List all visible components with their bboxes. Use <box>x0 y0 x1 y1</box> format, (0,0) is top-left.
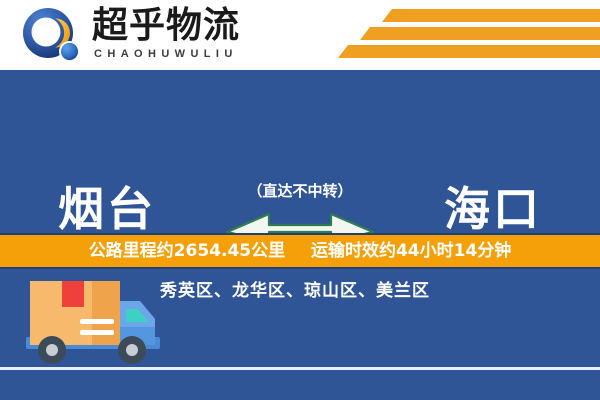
brand-name-cn: 超乎物流 <box>92 6 342 46</box>
stripe-3 <box>338 45 600 58</box>
logistics-route-banner: 超乎物流 CHAOHUWULIU 烟台 （直达不中转） 【往返运输】 海口 公路… <box>0 0 600 400</box>
covered-districts: 秀英区、龙华区、琼山区、美兰区 <box>160 279 580 303</box>
route-panel: 烟台 （直达不中转） 【往返运输】 海口 <box>0 70 600 233</box>
route-note-top: （直达不中转） <box>225 182 375 200</box>
stripe-2 <box>360 27 600 40</box>
company-logo-icon <box>22 7 84 65</box>
stripe-1 <box>382 9 600 22</box>
route-info-bar: 公路里程约2654.45公里 运输时效约44小时14分钟 <box>0 233 600 269</box>
delivery-truck-icon <box>22 275 167 370</box>
banner-header: 超乎物流 CHAOHUWULIU <box>0 0 600 70</box>
destination-city: 海口 <box>444 183 542 235</box>
distance-text: 公路里程约2654.45公里 <box>89 241 285 261</box>
divider-line <box>0 367 600 370</box>
brand-name-en: CHAOHUWULIU <box>94 47 342 61</box>
brand-block: 超乎物流 CHAOHUWULIU <box>92 6 342 66</box>
origin-city: 烟台 <box>58 183 156 235</box>
coverage-panel: 秀英区、龙华区、琼山区、美兰区 <box>0 269 600 400</box>
duration-text: 运输时效约44小时14分钟 <box>311 241 511 261</box>
header-stripes-decoration <box>330 0 600 70</box>
info-bar-text: 公路里程约2654.45公里 运输时效约44小时14分钟 <box>89 241 512 261</box>
